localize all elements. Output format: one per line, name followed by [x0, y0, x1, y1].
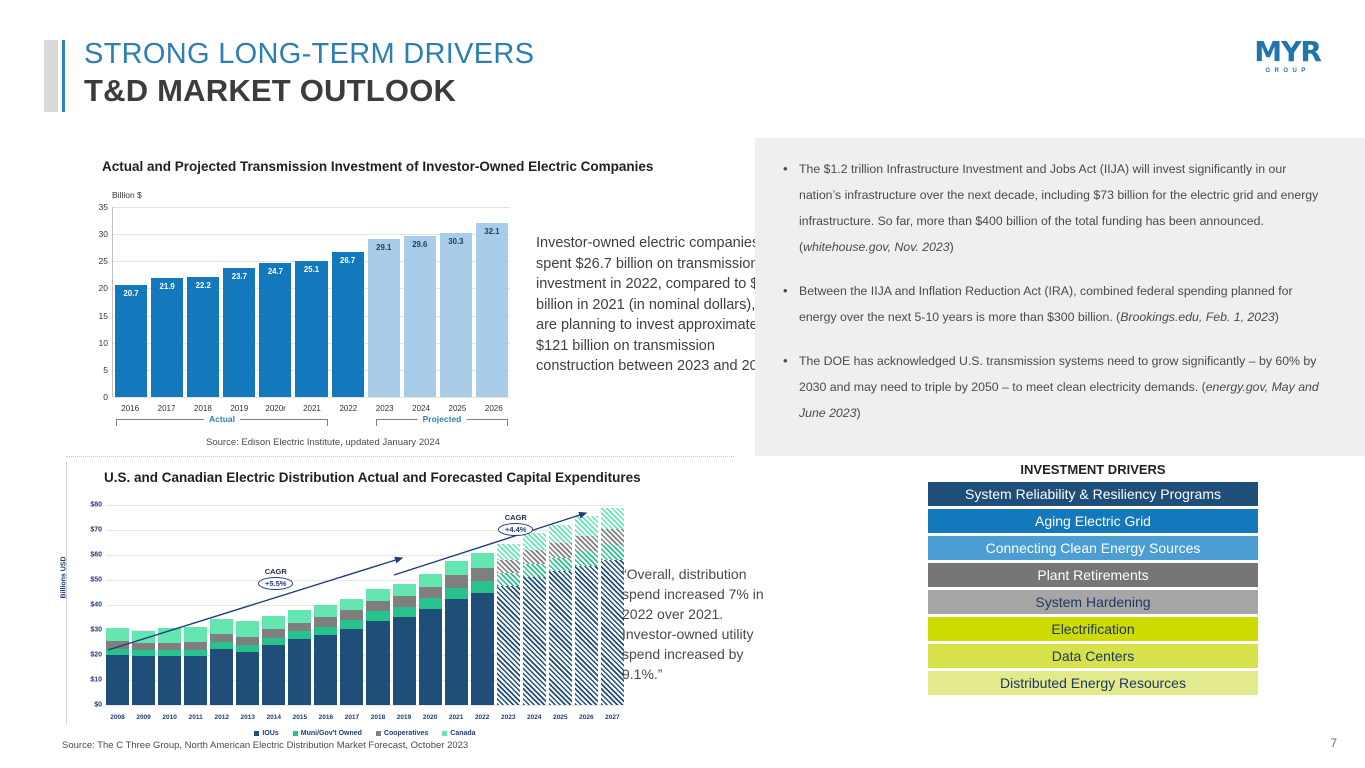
bullet-text: The DOE has acknowledged U.S. transmissi… [799, 348, 1331, 426]
cagr1-label: CAGR [258, 567, 293, 576]
chart1-bar: 32.1 [476, 223, 508, 397]
chart1-bar-value: 30.3 [440, 237, 472, 246]
chart2-bar-segment [601, 545, 624, 560]
chart1-x-tick: 2020r [259, 404, 291, 413]
chart1-bar: 29.1 [368, 239, 400, 397]
chart2-bar-segment [471, 568, 494, 581]
chart1-bar-value: 24.7 [259, 267, 291, 276]
chart2-y-tick: $80 [90, 502, 102, 509]
logo-subtext: GROUP [1254, 68, 1321, 74]
bullet-marker-icon: • [783, 348, 799, 426]
distribution-capex-chart: Billions USD $0$10$20$30$40$50$60$70$80 … [66, 501, 626, 731]
chart1-bars: 20.721.922.223.724.725.126.729.129.630.3… [115, 207, 508, 397]
chart2-bar-segment [445, 575, 468, 587]
chart2-legend-item: Cooperatives [376, 730, 428, 737]
chart2-y-tick: $0 [94, 702, 102, 709]
investment-drivers-list: System Reliability & Resiliency Programs… [928, 482, 1258, 695]
chart1-x-tick: 2017 [150, 404, 182, 413]
chart2-cagr-annotation-1: CAGR +5.5% [258, 567, 293, 590]
chart2-bar-segment [132, 656, 155, 705]
chart2-bar-segment [497, 544, 520, 560]
chart2-bar [575, 516, 598, 705]
chart2-x-tick: 2020 [419, 714, 442, 721]
gridline: 0 [113, 397, 510, 398]
slide-header: STRONG LONG-TERM DRIVERS T&D MARKET OUTL… [44, 36, 534, 110]
investment-driver-item: System Hardening [928, 590, 1258, 614]
bullet-marker-icon: • [783, 278, 799, 330]
chart2-x-tick: 2014 [262, 714, 285, 721]
chart1-source: Source: Edison Electric Institute, updat… [206, 437, 756, 448]
chart2-bar [445, 561, 468, 705]
bullet-marker-icon: • [783, 156, 799, 260]
chart2-bar-segment [601, 508, 624, 529]
chart2-bar-segment [158, 656, 181, 705]
chart2-x-tick: 2026 [575, 714, 598, 721]
chart1-bar-value: 29.6 [404, 240, 436, 249]
page-number: 7 [1330, 736, 1337, 750]
chart2-bar-segment [523, 550, 546, 564]
chart1-y-tick: 20 [99, 283, 108, 293]
chart2-y-tick: $10 [90, 677, 102, 684]
investment-driver-item: Distributed Energy Resources [928, 671, 1258, 695]
page-title: T&D MARKET OUTLOOK [84, 72, 534, 110]
chart1-y-tick: 5 [103, 365, 108, 375]
chart1-bar: 26.7 [332, 252, 364, 397]
investment-driver-item: System Reliability & Resiliency Programs [928, 482, 1258, 506]
chart1-x-tick: 2025 [441, 404, 473, 413]
chart2-bar [471, 553, 494, 705]
chart2-plot-area: $0$10$20$30$40$50$60$70$80 CAGR +5.5% [106, 505, 624, 705]
chart1-x-tick: 2024 [405, 404, 437, 413]
section-divider [66, 456, 734, 457]
chart2-bar-segment [575, 551, 598, 565]
investment-drivers-title: INVESTMENT DRIVERS [928, 462, 1258, 477]
chart1-actual-bracket: Actual [116, 419, 328, 431]
chart2-x-tick: 2015 [288, 714, 311, 721]
left-content-column: Actual and Projected Transmission Invest… [66, 158, 756, 731]
chart2-bar-segment [497, 573, 520, 585]
chart2-x-tick: 2013 [236, 714, 259, 721]
chart2-y-tick: $40 [90, 602, 102, 609]
chart2-bar [601, 508, 624, 705]
chart2-quote: “Overall, distribution spend increased 7… [622, 564, 772, 684]
chart2-x-tick: 2008 [106, 714, 129, 721]
bullet-item: •The DOE has acknowledged U.S. transmiss… [783, 330, 1331, 426]
chart1-bar: 20.7 [115, 285, 147, 397]
chart2-y-tick: $70 [90, 527, 102, 534]
chart1-x-tick: 2021 [296, 404, 328, 413]
chart1-y-tick: 10 [99, 338, 108, 348]
chart2-bar-segment [471, 581, 494, 593]
chart1-bar: 30.3 [440, 233, 472, 397]
chart2-bar-segment [445, 561, 468, 575]
chart1-bar-value: 25.1 [295, 265, 327, 274]
chart2-x-tick: 2022 [471, 714, 494, 721]
chart2-bar-segment [575, 536, 598, 552]
chart2-x-tick: 2017 [340, 714, 363, 721]
chart1-x-tick: 2022 [332, 404, 364, 413]
chart1-bar-value: 21.9 [151, 282, 183, 291]
chart2-bar-segment [601, 560, 624, 705]
chart2-x-tick: 2027 [601, 714, 624, 721]
legend-label: Muni/Gov't Owned [301, 730, 362, 737]
chart2-title: U.S. and Canadian Electric Distribution … [104, 469, 756, 487]
chart2-y-tick: $20 [90, 652, 102, 659]
chart2-bar-segment [575, 566, 598, 705]
legend-swatch [293, 731, 298, 736]
investment-driver-item: Data Centers [928, 644, 1258, 668]
cagr1-value: +5.5% [258, 577, 293, 590]
funding-highlights-panel: •The $1.2 trillion Infrastructure Invest… [755, 138, 1365, 456]
chart2-x-tick: 2010 [158, 714, 181, 721]
chart1-bar-value: 20.7 [115, 289, 147, 298]
chart1-x-tick: 2018 [187, 404, 219, 413]
chart2-bar-segment [523, 577, 546, 705]
chart1-x-tick: 2026 [478, 404, 510, 413]
chart2-bar-segment [575, 516, 598, 536]
chart1-projected-label: Projected [418, 414, 467, 424]
investment-drivers-section: INVESTMENT DRIVERS System Reliability & … [928, 462, 1258, 698]
chart1-paragraph: Investor-owned electric companies spent … [536, 233, 791, 377]
chart1-projected-bracket: Projected [376, 419, 508, 431]
chart1-y-tick: 35 [99, 202, 108, 212]
chart2-bar [523, 533, 546, 705]
chart2-bar [497, 544, 520, 705]
header-accent-grey [44, 40, 58, 112]
chart2-bar-segment [549, 558, 572, 572]
legend-swatch [376, 731, 381, 736]
chart1-x-labels: 20162017201820192020r2021202220232024202… [114, 404, 510, 413]
chart2-bar-segment [419, 574, 442, 587]
chart2-legend-item: Muni/Gov't Owned [293, 730, 362, 737]
chart2-x-tick: 2012 [210, 714, 233, 721]
chart2-bar-segment [523, 564, 546, 577]
investment-driver-item: Aging Electric Grid [928, 509, 1258, 533]
bullet-citation: energy.gov, May and June 2023 [799, 380, 1319, 420]
chart1-bar: 25.1 [295, 261, 327, 397]
chart2-y-tick: $50 [90, 577, 102, 584]
chart2-bar-segment [549, 543, 572, 558]
legend-label: IOUs [262, 730, 278, 737]
chart1-x-tick: 2019 [223, 404, 255, 413]
chart1-actual-label: Actual [204, 414, 240, 424]
chart2-x-labels: 2008200920102011201220132014201520162017… [106, 714, 624, 721]
gridline: $0 [106, 705, 624, 706]
chart1-bar-value: 23.7 [223, 272, 255, 281]
chart2-y-tick: $30 [90, 627, 102, 634]
chart2-legend: IOUsMuni/Gov't OwnedCooperativesCanada [106, 730, 624, 737]
chart1-bar: 29.6 [404, 236, 436, 397]
chart2-bar-segment [184, 656, 207, 705]
chart2-bar [549, 525, 572, 705]
myr-group-logo: MYR GROUP [1254, 38, 1321, 74]
chart2-x-tick: 2011 [184, 714, 207, 721]
chart2-x-tick: 2018 [366, 714, 389, 721]
chart1-bar: 21.9 [151, 278, 183, 397]
chart1-bar-value: 32.1 [476, 227, 508, 236]
chart1-bar-value: 26.7 [332, 256, 364, 265]
chart1-bar: 24.7 [259, 263, 291, 397]
chart1-y-tick: 30 [99, 229, 108, 239]
chart2-bar-segment [471, 593, 494, 705]
chart1-x-tick: 2023 [369, 404, 401, 413]
chart2-x-tick: 2023 [497, 714, 520, 721]
chart2-bar-segment [419, 609, 442, 705]
logo-wordmark: MYR [1254, 38, 1321, 66]
chart2-bar-segment [549, 525, 572, 543]
chart2-x-tick: 2019 [393, 714, 416, 721]
investment-driver-item: Plant Retirements [928, 563, 1258, 587]
chart2-bar-segment [106, 655, 129, 705]
bullet-text: The $1.2 trillion Infrastructure Investm… [799, 156, 1331, 260]
chart2-bar-segment [419, 598, 442, 609]
chart2-x-tick: 2024 [523, 714, 546, 721]
chart2-source: Source: The C Three Group, North America… [62, 740, 468, 751]
chart1-y-tick: 15 [99, 311, 108, 321]
chart1-title: Actual and Projected Transmission Invest… [102, 158, 756, 176]
bullet-citation: Brookings.edu, Feb. 1, 2023 [1120, 310, 1275, 324]
chart2-x-tick: 2016 [314, 714, 337, 721]
chart2-y-tick: $60 [90, 552, 102, 559]
chart1-y-tick: 0 [103, 392, 108, 402]
chart2-bar [419, 574, 442, 705]
cagr2-value: +4.4% [498, 523, 533, 536]
legend-label: Canada [450, 730, 475, 737]
vertical-divider [66, 462, 67, 724]
bullet-text: Between the IIJA and Inflation Reduction… [799, 278, 1331, 330]
chart1-x-tick: 2016 [114, 404, 146, 413]
chart1-bar-value: 29.1 [368, 243, 400, 252]
chart2-bar-segment [445, 599, 468, 705]
chart2-x-tick: 2021 [445, 714, 468, 721]
bullet-item: •Between the IIJA and Inflation Reductio… [783, 260, 1331, 330]
chart1-unit-label: Billion $ [112, 190, 142, 200]
page-eyebrow: STRONG LONG-TERM DRIVERS [84, 36, 534, 72]
bullet-citation: whitehouse.gov, Nov. 2023 [803, 240, 950, 254]
investment-driver-item: Electrification [928, 617, 1258, 641]
legend-swatch [442, 731, 447, 736]
chart1-plot-area: 05101520253035 20.721.922.223.724.725.12… [112, 207, 510, 397]
chart2-bar-segment [549, 571, 572, 705]
chart2-bar-segment [471, 553, 494, 568]
legend-label: Cooperatives [384, 730, 428, 737]
chart1-y-tick: 25 [99, 256, 108, 266]
chart2-bar-segment [497, 560, 520, 574]
bullet-item: •The $1.2 trillion Infrastructure Invest… [783, 138, 1331, 260]
chart2-legend-item: IOUs [254, 730, 278, 737]
chart1-bar-value: 22.2 [187, 281, 219, 290]
transmission-investment-chart: Billion $ 05101520253035 20.721.922.223.… [74, 190, 514, 435]
chart1-bar: 23.7 [223, 268, 255, 397]
header-accent-blue [62, 40, 65, 112]
chart2-trend-arrows [106, 505, 406, 655]
chart1-bar: 22.2 [187, 277, 219, 398]
investment-driver-item: Connecting Clean Energy Sources [928, 536, 1258, 560]
chart2-bar-segment [445, 588, 468, 599]
chart2-block: U.S. and Canadian Electric Distribution … [66, 469, 756, 731]
chart2-bar-segment [497, 586, 520, 705]
legend-swatch [254, 731, 259, 736]
chart2-bar-segment [601, 529, 624, 545]
cagr2-label: CAGR [498, 513, 533, 522]
chart2-x-tick: 2009 [132, 714, 155, 721]
chart2-bar-segment [419, 587, 442, 599]
chart2-x-tick: 2025 [549, 714, 572, 721]
chart2-bar-segment [236, 652, 259, 705]
chart2-bar-segment [210, 649, 233, 705]
chart2-cagr-annotation-2: CAGR +4.4% [498, 513, 533, 536]
chart2-legend-item: Canada [442, 730, 475, 737]
